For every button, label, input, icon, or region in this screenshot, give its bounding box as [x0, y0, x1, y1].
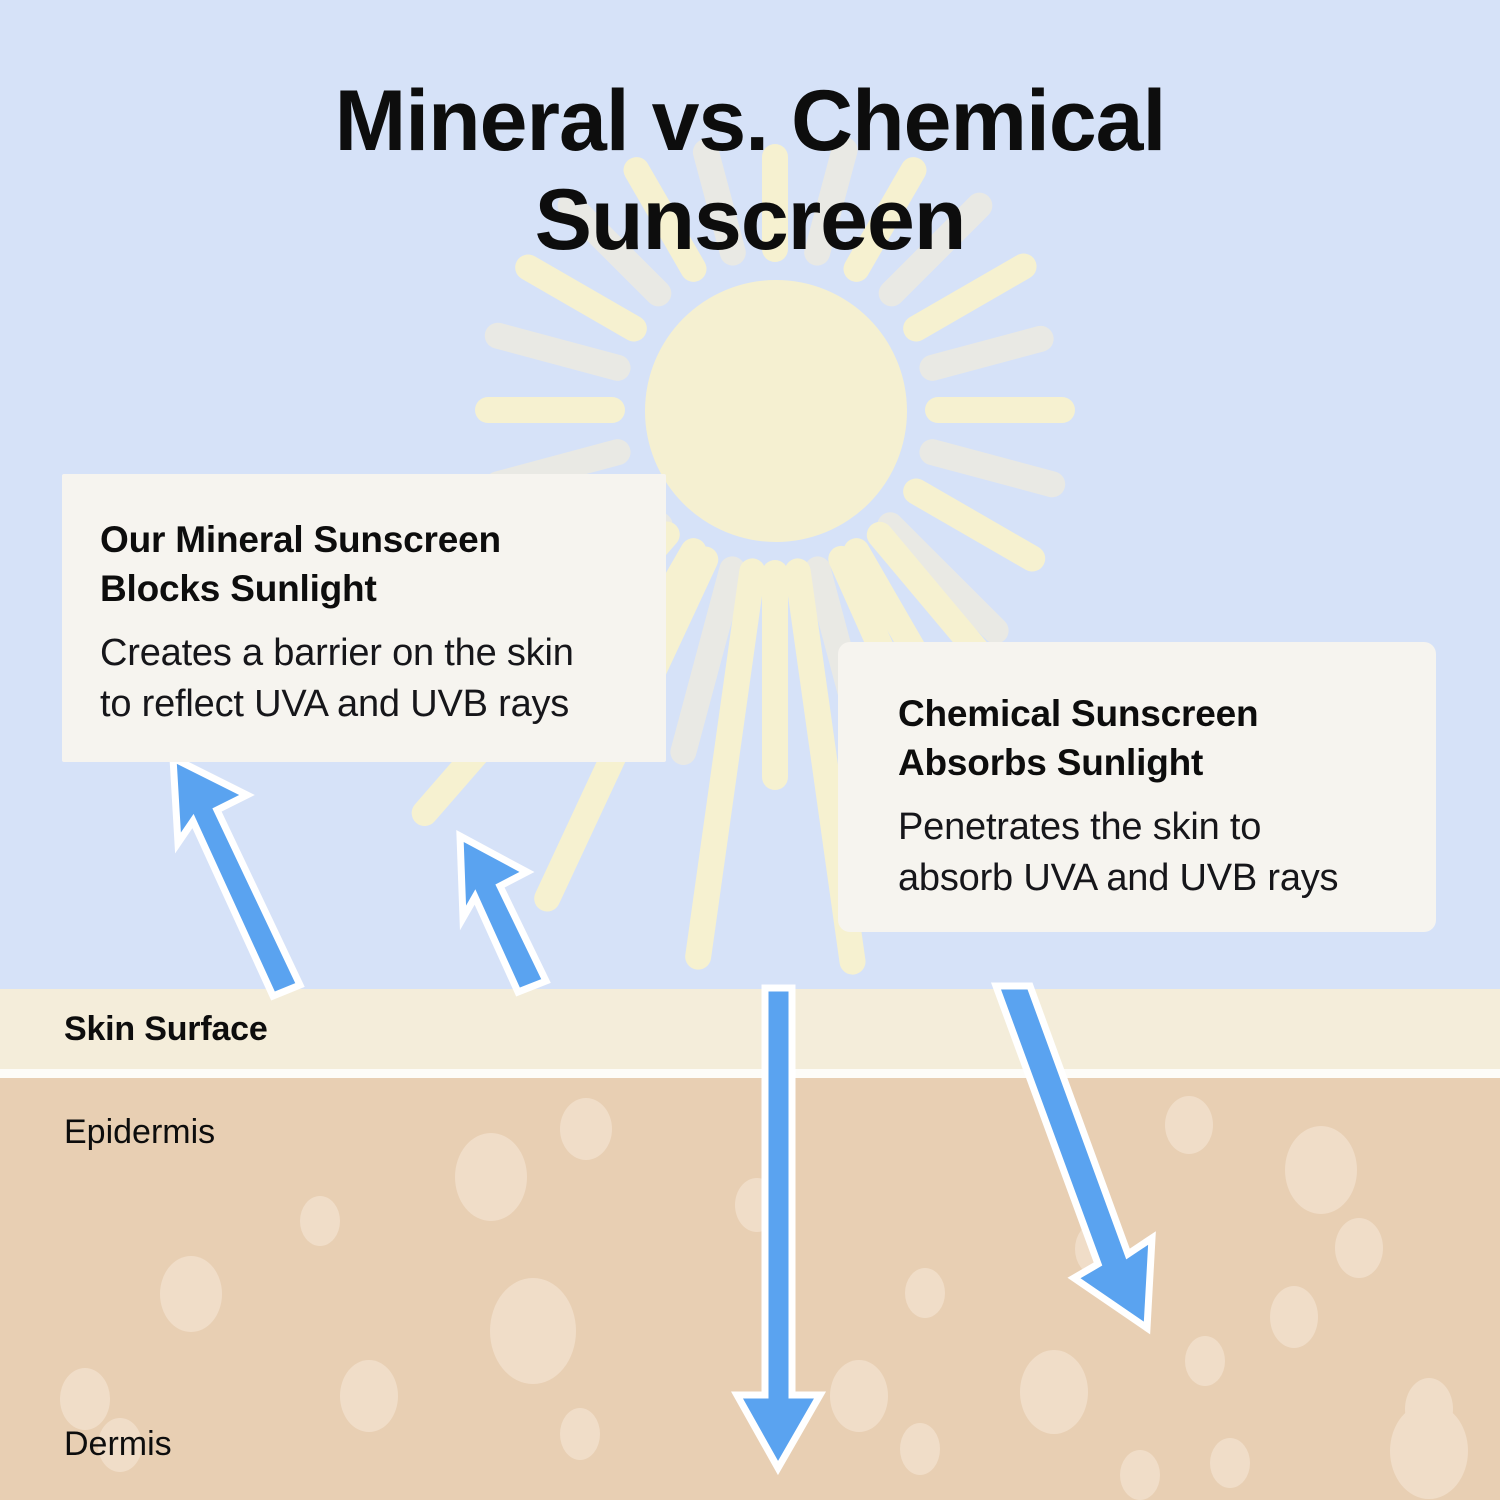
dermis-bubble-12 [1185, 1336, 1225, 1386]
dermis-bubble-17 [560, 1408, 600, 1460]
page-title-line-1: Mineral vs. Chemical [335, 73, 1166, 169]
dermis-bubble-8 [1270, 1286, 1318, 1348]
dermis-bubble-20 [1210, 1438, 1250, 1488]
callout-chemical-sunscreen: Chemical Sunscreen Absorbs Sunlight Pene… [838, 642, 1436, 932]
dermis-bubble-18 [900, 1423, 940, 1475]
skin-layer-label-epidermis: Epidermis [64, 1113, 215, 1152]
dermis-band [0, 1078, 1500, 1500]
dermis-bubble-14 [830, 1360, 888, 1432]
sun-ray-5 [917, 323, 1057, 384]
callout-mineral-title-line-2: Blocks Sunlight [100, 568, 377, 609]
dermis-bubble-9 [1075, 1223, 1115, 1275]
skin-layer-label-skin-surface: Skin Surface [64, 1010, 268, 1049]
callout-chemical-title: Chemical Sunscreen Absorbs Sunlight [898, 690, 1376, 788]
callout-chemical-body-line-2: absorb UVA and UVB rays [898, 857, 1338, 899]
callout-mineral-body: Creates a barrier on the skin to reflect… [100, 628, 628, 731]
page-title: Mineral vs. Chemical Sunscreen [250, 72, 1250, 270]
layer-divider [0, 1069, 1500, 1078]
dermis-bubble-6 [300, 1196, 340, 1246]
dermis-bubble-11 [340, 1360, 398, 1432]
dermis-bubble-5 [1335, 1218, 1383, 1278]
dermis-bubble-23 [735, 1178, 779, 1232]
sun-disc [645, 280, 907, 542]
dermis-bubble-10 [490, 1278, 576, 1384]
dermis-bubble-4 [455, 1133, 527, 1221]
dermis-bubble-15 [1020, 1350, 1088, 1434]
sun-ray-12 [762, 560, 788, 790]
dermis-bubble-19 [1390, 1403, 1468, 1499]
callout-chemical-title-line-1: Chemical Sunscreen [898, 693, 1258, 734]
infographic-canvas: Mineral vs. Chemical Sunscreen Our Miner… [0, 0, 1500, 1500]
callout-mineral-body-line-2: to reflect UVA and UVB rays [100, 683, 569, 725]
dermis-bubble-7 [160, 1256, 222, 1332]
dermis-bubble-24 [1120, 1450, 1160, 1500]
callout-chemical-title-line-2: Absorbs Sunlight [898, 742, 1203, 783]
dermis-bubble-0 [560, 1098, 612, 1160]
dermis-bubble-1 [1165, 1096, 1213, 1154]
callout-mineral-sunscreen: Our Mineral Sunscreen Blocks Sunlight Cr… [62, 474, 666, 762]
sun-ray-6 [925, 397, 1075, 423]
sun-ray-18 [475, 397, 625, 423]
callout-chemical-body-line-1: Penetrates the skin to [898, 806, 1261, 848]
dermis-bubble-3 [905, 1268, 945, 1318]
dermis-bubble-13 [60, 1368, 110, 1430]
callout-mineral-title-line-1: Our Mineral Sunscreen [100, 519, 501, 560]
callout-mineral-title: Our Mineral Sunscreen Blocks Sunlight [100, 516, 628, 614]
skin-layer-label-dermis: Dermis [64, 1425, 172, 1464]
callout-chemical-body: Penetrates the skin to absorb UVA and UV… [898, 802, 1376, 905]
dermis-bubble-2 [1285, 1126, 1357, 1214]
page-title-line-2: Sunscreen [250, 171, 1250, 270]
callout-mineral-body-line-1: Creates a barrier on the skin [100, 632, 574, 674]
